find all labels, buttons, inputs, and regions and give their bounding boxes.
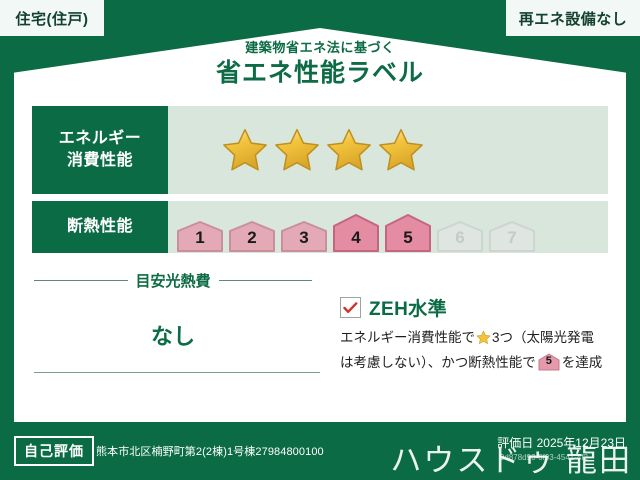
zeh-desc-part3: を達成	[562, 355, 603, 370]
star-icon	[326, 127, 372, 173]
evaluation-date: 評価日 2025年12月23日	[497, 434, 626, 451]
inline-grade-badge: 5	[538, 353, 560, 371]
insulation-grade-value: 4	[332, 228, 380, 248]
page-title-block: 建築物省エネ法に基づく 省エネ性能ラベル	[0, 40, 640, 89]
label-footer: 自己評価 熊本市北区楠野町第2(2棟)1号棟27984800100 評価日 20…	[0, 422, 640, 480]
insulation-grade-1: 1	[176, 220, 224, 253]
star-icon	[222, 127, 268, 173]
star-icon	[274, 127, 320, 173]
insulation-grade-value: 1	[176, 228, 224, 248]
insulation-grade-value: 2	[228, 228, 276, 248]
utility-cost-divider	[34, 372, 320, 373]
insulation-grade-7: 7	[488, 220, 536, 253]
property-address: 熊本市北区楠野町第2(2棟)1号棟27984800100	[96, 443, 324, 459]
insulation-label: 断熱性能	[67, 216, 133, 238]
self-evaluation-badge: 自己評価	[14, 436, 94, 466]
energy-label-line2: 消費性能	[67, 150, 133, 172]
energy-performance-label: 住宅(住戸) 再エネ設備なし 建築物省エネ法に基づく 省エネ性能ラベル エネルギ…	[0, 0, 640, 480]
insulation-grade-value: 5	[384, 228, 432, 248]
label-body-card: エネルギー 消費性能 断熱性能 1234567 目安光熱費	[14, 96, 626, 422]
insulation-performance-label-cell: 断熱性能	[32, 201, 168, 253]
renewable-equipment-tag: 再エネ設備なし	[506, 0, 640, 36]
energy-label-line1: エネルギー	[59, 128, 142, 150]
energy-performance-label-cell: エネルギー 消費性能	[32, 106, 168, 194]
page-title: 省エネ性能ラベル	[0, 58, 640, 89]
energy-performance-value-cell	[168, 106, 608, 194]
insulation-grade-value: 6	[436, 228, 484, 248]
insulation-grade-5: 5	[384, 213, 432, 253]
insulation-grade-2: 2	[228, 220, 276, 253]
check-icon	[340, 297, 361, 318]
star-icon	[476, 330, 491, 352]
utility-cost-heading: 目安光熱費	[14, 270, 332, 291]
insulation-grade-3: 3	[280, 220, 328, 253]
zeh-desc-part1: エネルギー消費性能で	[340, 330, 475, 345]
page-subtitle: 建築物省エネ法に基づく	[0, 40, 640, 56]
heading-rule-right	[219, 280, 313, 281]
energy-performance-row: エネルギー 消費性能	[32, 106, 608, 194]
utility-cost-value: なし	[14, 319, 332, 351]
utility-cost-heading-label: 目安光熱費	[136, 270, 211, 291]
dwelling-type-tag: 住宅(住戸)	[0, 0, 104, 36]
zeh-panel: ZEH水準 エネルギー消費性能で 3つ（太陽光発電は考慮しない）、かつ断熱性能で…	[332, 264, 626, 422]
insulation-grade-value: 3	[280, 228, 328, 248]
star-icon	[378, 127, 424, 173]
utility-cost-panel: 目安光熱費 なし	[14, 264, 332, 422]
lower-section: 目安光熱費 なし ZEH水準 エネルギー消費性能で	[14, 264, 626, 422]
insulation-grade-6: 6	[436, 220, 484, 253]
renewable-equipment-tag-label: 再エネ設備なし	[519, 8, 628, 29]
heading-rule-left	[34, 280, 128, 281]
insulation-grade-value: 7	[488, 228, 536, 248]
star-rating	[168, 127, 424, 173]
insulation-performance-value-cell: 1234567	[168, 201, 608, 253]
zeh-title-line: ZEH水準	[340, 294, 606, 321]
inline-grade-value: 5	[538, 352, 560, 370]
insulation-grade-scale: 1234567	[168, 201, 536, 253]
insulation-performance-row: 断熱性能 1234567	[32, 201, 608, 253]
zeh-title: ZEH水準	[369, 294, 447, 321]
insulation-grade-4: 4	[332, 213, 380, 253]
dwelling-type-tag-label: 住宅(住戸)	[16, 8, 89, 29]
zeh-description: エネルギー消費性能で 3つ（太陽光発電は考慮しない）、かつ断熱性能で 5 を達成	[340, 327, 606, 375]
